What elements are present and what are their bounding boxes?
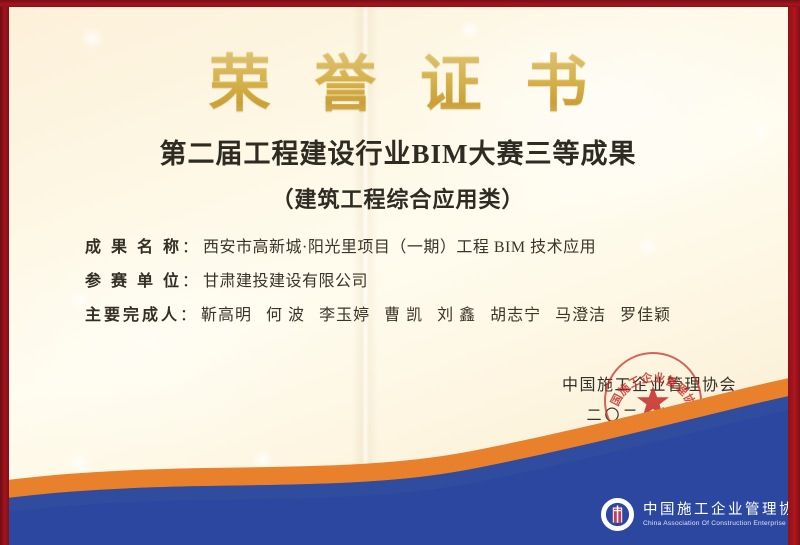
- contributor-name: 曹 凯: [384, 301, 423, 325]
- certificate-page: 荣 誉 证 书 第二届工程建设行业BIM大赛三等成果 （建筑工程综合应用类） 成…: [7, 5, 789, 545]
- field-label-project-name: 成 果 名 称: [85, 233, 182, 257]
- certificate-subtitle: 第二届工程建设行业BIM大赛三等成果: [7, 137, 789, 171]
- field-colon-project-name: ：: [182, 233, 203, 257]
- binder-edge-right: [788, 0, 800, 545]
- field-colon-contributors: ：: [180, 301, 201, 325]
- association-emblem-icon: [601, 498, 634, 531]
- contributor-name: 李玉婷: [319, 301, 370, 325]
- field-row-contributors: 主要完成人 ： 靳高明 何 波 李玉婷 曹 凯 刘 鑫 胡志宁 马澄洁 罗佳颖: [85, 301, 725, 325]
- light-glare-2: [459, 21, 481, 39]
- certificate-title: 荣 誉 证 书: [7, 49, 789, 121]
- footer-logo-text: 中国施工企业管理协会 China Association Of Construc…: [643, 502, 789, 528]
- light-glare-1: [79, 27, 105, 49]
- issuing-organization: 中国施工企业管理协会: [562, 371, 737, 395]
- issue-date: 二〇二一年七月: [562, 404, 737, 425]
- certificate-fields: 成 果 名 称 ： 西安市高新城·阳光里项目（一期）工程 BIM 技术应用 参 …: [85, 233, 725, 335]
- field-label-entrant-unit: 参 赛 单 位: [85, 267, 182, 291]
- field-row-project-name: 成 果 名 称 ： 西安市高新城·阳光里项目（一期）工程 BIM 技术应用: [85, 233, 725, 257]
- contributor-name: 靳高明: [201, 301, 252, 325]
- contributor-name: 刘 鑫: [437, 301, 476, 325]
- field-value-contributors: 靳高明 何 波 李玉婷 曹 凯 刘 鑫 胡志宁 马澄洁 罗佳颖: [201, 301, 725, 325]
- field-row-entrant-unit: 参 赛 单 位 ： 甘肃建投建设有限公司: [85, 267, 725, 291]
- light-glare-7: [67, 453, 93, 473]
- contributor-name: 何 波: [266, 301, 305, 325]
- field-label-contributors: 主要完成人: [85, 301, 180, 325]
- signature-block: 中国施工企业管理协会 二〇二一年七月: [562, 371, 737, 425]
- certificate-image: 荣 誉 证 书 第二届工程建设行业BIM大赛三等成果 （建筑工程综合应用类） 成…: [0, 0, 800, 545]
- footer-org-name-cn: 中国施工企业管理协会: [643, 502, 789, 519]
- binder-edge-top: [0, 0, 800, 7]
- field-value-entrant-unit: 甘肃建投建设有限公司: [203, 267, 725, 291]
- light-glare-8: [251, 451, 275, 469]
- footer-org-name-en: China Association Of Construction Enterp…: [643, 519, 789, 528]
- footer-association-logo: 中国施工企业管理协会 China Association Of Construc…: [601, 498, 789, 531]
- binder-edge-left: [0, 0, 9, 545]
- contributor-name: 胡志宁: [490, 301, 541, 325]
- field-colon-entrant-unit: ：: [182, 267, 203, 291]
- contributor-name: 马澄洁: [555, 301, 606, 325]
- certificate-category: （建筑工程综合应用类）: [7, 185, 789, 215]
- field-value-project-name: 西安市高新城·阳光里项目（一期）工程 BIM 技术应用: [203, 233, 725, 257]
- contributor-name: 罗佳颖: [620, 301, 671, 325]
